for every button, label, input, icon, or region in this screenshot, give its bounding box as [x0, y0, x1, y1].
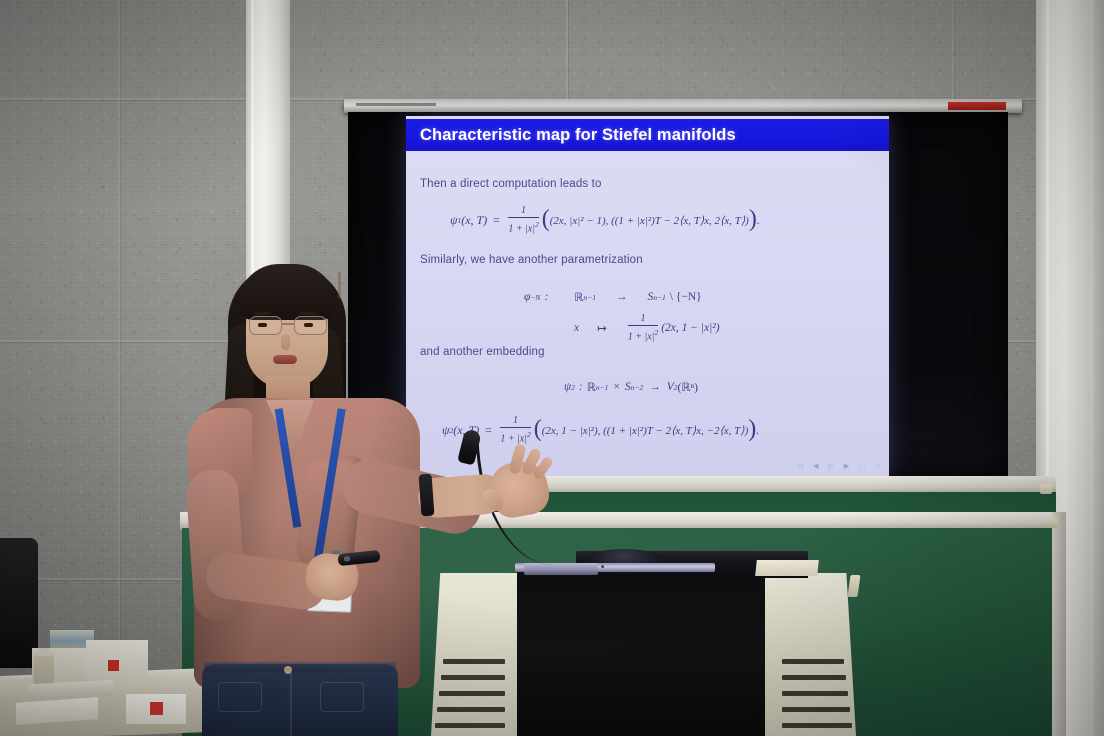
jeans-seam: [290, 672, 292, 736]
phi-colon: :: [540, 291, 552, 303]
podium-vent-slot: [782, 723, 852, 728]
microphone-base: [524, 563, 598, 575]
slide-line-text: Similarly, we have another parametrizati…: [420, 254, 643, 266]
eq1-den-exp: 2: [535, 220, 539, 229]
jeans-pocket-right: [320, 682, 364, 712]
eq1-close-paren: ): [749, 209, 757, 231]
eye-right: [304, 323, 313, 327]
slide-equation-psi2-signature: ψ2 : ℝn−1 × Sn−2 → V2(ℝⁿ): [564, 380, 698, 394]
nav-first-icon[interactable]: ◁: [798, 462, 804, 470]
map-image: (2x, 1 − |x|²): [661, 322, 719, 334]
podium-vent-slot: [782, 707, 850, 712]
clicker-button[interactable]: [344, 556, 350, 562]
nav-prev-icon[interactable]: ◀: [813, 462, 819, 470]
eq1-open-paren: (: [542, 209, 550, 231]
nav-next-icon[interactable]: ▷: [828, 462, 834, 470]
slide-equation-psi1: ψ1(x, T) = 1 1 + |x|2 ( (2x, |x|² − 1), …: [450, 206, 760, 234]
control-strip-label: ■: [601, 564, 604, 570]
eq1-tail: .: [757, 213, 760, 228]
eq2-numerator: 1: [513, 416, 518, 427]
psi2sig-cod-arg: (ℝⁿ): [678, 380, 698, 394]
psi2sig-lhs: ψ: [564, 381, 571, 393]
eq1-lhs-args: (x, T): [461, 213, 487, 228]
projection-screen-housing: [344, 99, 1022, 113]
slide-body: Then a direct computation leads to ψ1(x,…: [406, 154, 889, 478]
map-arrow: ↦: [579, 321, 625, 335]
phi-codomain-rest: \ {−N}: [666, 291, 702, 303]
chalkboard-right-edge: [1052, 512, 1066, 736]
slide-title: Characteristic map for Stiefel manifolds: [406, 126, 736, 145]
jeans-waistband: [204, 662, 396, 672]
map-den-exp: 2: [654, 328, 658, 337]
map-fraction: 1 1 + |x|2: [628, 314, 658, 342]
desk-box: [86, 640, 148, 686]
box-logo: [108, 660, 119, 671]
slide-title-bar: Characteristic map for Stiefel manifolds: [406, 119, 889, 151]
hair-part: [338, 272, 341, 298]
projected-slide: Characteristic map for Stiefel manifolds…: [406, 116, 889, 478]
eq1-numerator: 1: [521, 206, 526, 217]
eq1-fraction: 1 1 + |x|2: [508, 206, 538, 234]
mouth: [273, 355, 297, 364]
phi-sub: −N: [530, 293, 540, 302]
phi-domain: ℝ: [552, 290, 583, 304]
podium-vent-slot: [443, 659, 505, 664]
psi2sig-dom1: ℝ: [587, 380, 596, 394]
psi2sig-arrow: →: [643, 381, 667, 393]
podium-vent-slot: [782, 659, 844, 664]
nose: [281, 334, 290, 350]
housing-slot: [356, 103, 436, 106]
map-den-text: 1 + |x|: [628, 331, 655, 342]
eq2-group: (2x, 1 − |x|²), ((1 + |x|²)T − 2⟨x, T⟩x,…: [542, 424, 748, 437]
hair-top: [238, 264, 336, 320]
box-logo: [150, 702, 163, 715]
eq1-equals: =: [487, 213, 505, 228]
podium-vent-slot: [441, 675, 505, 680]
eq1-lhs: ψ: [450, 213, 457, 228]
bottle-cap: [38, 648, 50, 656]
desk-box: [126, 694, 186, 724]
eq2-equals: =: [479, 423, 497, 438]
nav-last-icon[interactable]: ▶: [844, 462, 850, 470]
chalk-holder: [1040, 484, 1052, 494]
phi-domain-exp: n−1: [583, 293, 596, 302]
eq1-group: (2x, |x|² − 1), ((1 + |x|²)T − 2⟨x, T⟩x,…: [550, 214, 749, 227]
beamer-navigation-bar[interactable]: ◁ ◀ ▷ ▶ ⬚ ⌂: [798, 462, 881, 470]
podium-vent-slot: [782, 675, 846, 680]
eq1-den-text: 1 + |x|: [508, 223, 535, 234]
eq1-denominator: 1 + |x|2: [508, 218, 538, 234]
nav-frame-icon[interactable]: ⬚: [859, 462, 867, 470]
lecture-room-photo: Characteristic map for Stiefel manifolds…: [0, 0, 1104, 736]
psi2sig-times: ×: [608, 381, 625, 393]
psi2sig-cod: V: [667, 381, 674, 393]
podium-paper-sheet: [755, 560, 819, 576]
eye-left: [258, 323, 267, 327]
wall-tile-seam: [118, 0, 120, 736]
jeans-pocket-left: [218, 682, 262, 712]
eq2-tail: .: [756, 423, 759, 438]
podium-center-body: [517, 566, 765, 736]
map-numerator: 1: [640, 314, 645, 325]
eq2-close-paren: ): [748, 419, 756, 441]
map-denominator: 1 + |x|2: [628, 326, 658, 342]
speaker-person: [180, 258, 450, 736]
phi-codomain-exp: n−1: [653, 293, 666, 302]
podium-vent-slot: [782, 691, 848, 696]
podium-right-panel: [760, 573, 856, 736]
chalk-holder: [1046, 518, 1058, 528]
slide-equation-phi-signature: φ−N : ℝn−1 → Sn−1 \ {−N}: [524, 290, 702, 304]
glasses-bridge: [282, 323, 294, 325]
nav-home-icon[interactable]: ⌂: [876, 462, 881, 470]
slide-equation-phi-rule: x ↦ 1 1 + |x|2 (2x, 1 − |x|²): [574, 314, 720, 342]
psi2sig-colon: :: [575, 381, 587, 393]
pillar-highlight: [1090, 0, 1093, 736]
slide-line-text: Then a direct computation leads to: [420, 178, 602, 190]
psi2sig-dom1-exp: n−1: [596, 383, 609, 392]
phi-arrow: →: [596, 291, 648, 303]
psi2sig-dom2-exp: n−2: [631, 383, 644, 392]
screen-brand-label: [948, 102, 1006, 110]
